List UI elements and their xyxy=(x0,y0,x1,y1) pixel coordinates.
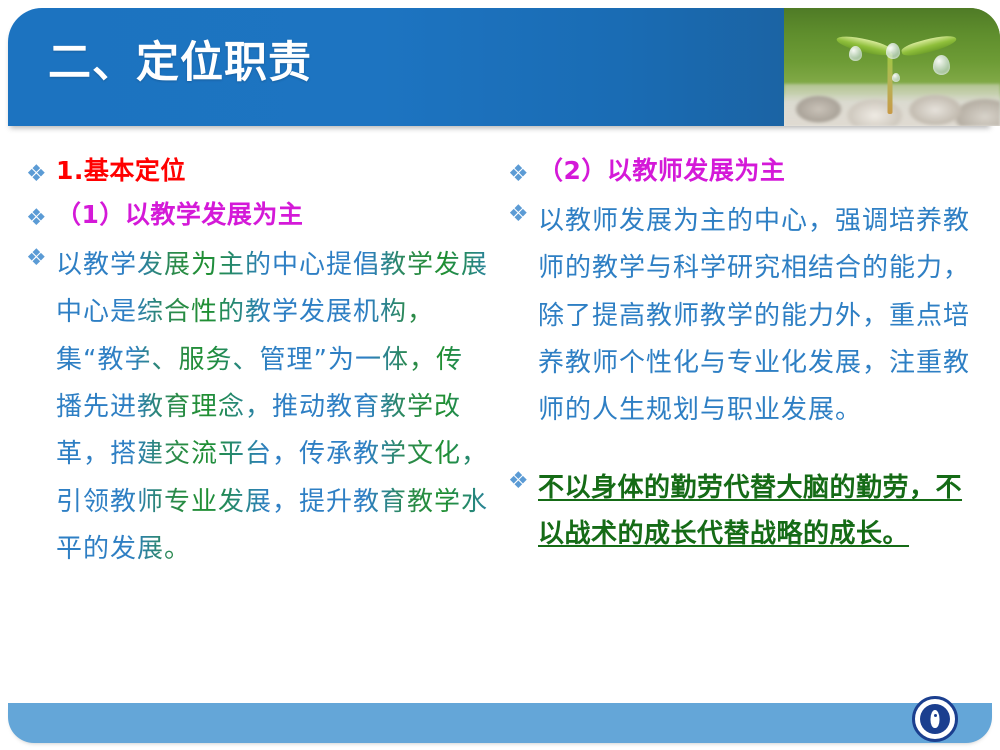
list-item: ❖ （1）以教学发展为主 xyxy=(26,202,488,230)
list-item: ❖ （2）以教师发展为主 xyxy=(508,158,976,186)
water-droplet-icon xyxy=(886,43,900,59)
presentation-slide: 二、定位职责 ❖ 1.基本定位 ❖ （1）以教学发展为主 ❖ 以教学发展为主的中… xyxy=(0,0,1000,750)
water-droplet-icon xyxy=(849,46,862,61)
basic-position-heading: 1.基本定位 xyxy=(56,158,488,183)
sub-heading-2: （2）以教师发展为主 xyxy=(538,158,976,183)
university-seal-logo-icon xyxy=(912,696,958,742)
list-item: ❖ 不以身体的勤劳代替大脑的勤劳，不以战术的成长代替战略的成长。 xyxy=(508,465,976,558)
sub-heading-1: （1）以教学发展为主 xyxy=(56,202,488,227)
right-content-column: ❖ （2）以教师发展为主 ❖ 以教师发展为主的中心，强调培养教师的教学与科学研究… xyxy=(508,158,976,557)
paragraph-teacher-development: 以教师发展为主的中心，强调培养教师的教学与科学研究相结合的能力，除了提高教师教学… xyxy=(538,198,976,435)
diamond-bullet-icon: ❖ xyxy=(508,465,538,493)
closing-quote: 不以身体的勤劳代替大脑的勤劳，不以战术的成长代替战略的成长。 xyxy=(538,465,976,558)
slide-footer-bar xyxy=(8,703,992,743)
water-droplet-icon xyxy=(892,73,900,82)
seal-emblem-mark xyxy=(931,710,940,728)
paragraph-teaching-development: 以教学发展为主的中心提倡教学发展中心是综合性的教学发展机构，集“教学、服务、管理… xyxy=(56,242,488,573)
diamond-bullet-icon: ❖ xyxy=(508,198,538,226)
diamond-bullet-icon: ❖ xyxy=(26,158,56,186)
diamond-bullet-icon: ❖ xyxy=(26,202,56,230)
diamond-bullet-icon: ❖ xyxy=(508,158,538,186)
left-content-column: ❖ 1.基本定位 ❖ （1）以教学发展为主 ❖ 以教学发展为主的中心提倡教学发展… xyxy=(26,158,488,573)
list-item: ❖ 1.基本定位 xyxy=(26,158,488,186)
sprout-stem-icon xyxy=(887,53,892,114)
water-droplet-icon xyxy=(933,55,950,75)
list-item: ❖ 以教师发展为主的中心，强调培养教师的教学与科学研究相结合的能力，除了提高教师… xyxy=(508,198,976,435)
sprout-photo xyxy=(784,8,1000,126)
page-title: 二、定位职责 xyxy=(48,42,312,85)
seal-inner-disc xyxy=(920,704,950,734)
list-item: ❖ 以教学发展为主的中心提倡教学发展中心是综合性的教学发展机构，集“教学、服务、… xyxy=(26,242,488,573)
diamond-bullet-icon: ❖ xyxy=(26,242,56,270)
